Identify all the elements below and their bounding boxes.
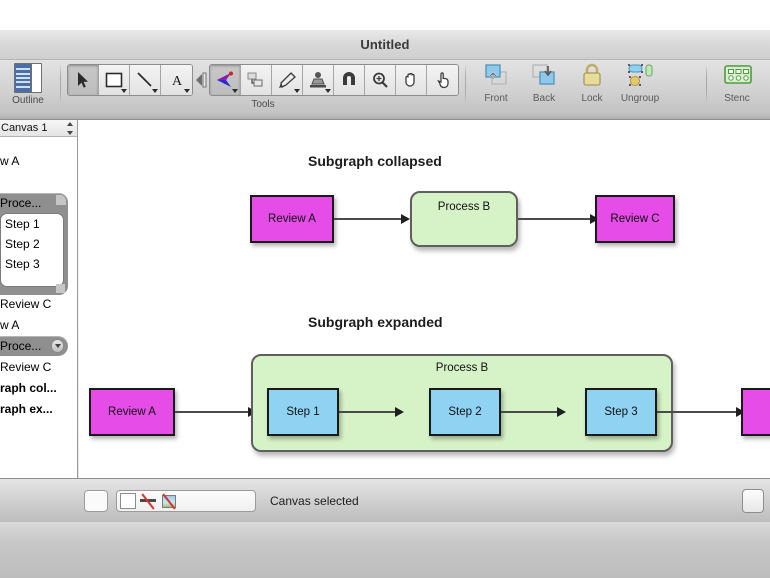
- node-review-a-expanded[interactable]: Review A: [89, 388, 175, 436]
- node-step-1[interactable]: Step 1: [267, 388, 339, 436]
- svg-text:A: A: [171, 74, 182, 88]
- ungroup-button[interactable]: Ungroup: [616, 60, 664, 116]
- main-toolbar: Outline: [0, 60, 770, 120]
- edge-step-1-to-step-2: [339, 411, 396, 413]
- ungroup-icon: [625, 62, 655, 90]
- omnigraffle-window: Untitled Outline: [0, 0, 770, 578]
- bring-to-front-button[interactable]: Front: [472, 60, 520, 116]
- toolbar-group-outline-label: Outline: [12, 95, 44, 106]
- style-brush-tool[interactable]: [272, 65, 303, 95]
- no-stroke-icon[interactable]: [139, 493, 157, 509]
- canvas-selector[interactable]: Canvas 1: [0, 120, 77, 137]
- outline-group-label: Proce...: [0, 196, 41, 210]
- pointing-hand-tool[interactable]: [427, 65, 458, 95]
- group-disclosure-icon[interactable]: [51, 339, 64, 353]
- outline-sidebar: Canvas 1 w A Proce... Step 1 Ste: [0, 120, 78, 478]
- chevron-down-icon: [325, 89, 331, 93]
- section-title-expanded: Subgraph expanded: [308, 314, 443, 330]
- node-process-b-collapsed[interactable]: Process B: [410, 191, 518, 247]
- style-attributes-well[interactable]: [116, 490, 256, 512]
- node-review-c-collapsed[interactable]: Review C: [595, 195, 675, 243]
- toolbar-overflow-handle[interactable]: [193, 65, 209, 95]
- fill-color-swatch[interactable]: [84, 490, 108, 512]
- shape-tool[interactable]: [99, 65, 130, 95]
- node-review-c-expanded[interactable]: Rev: [741, 388, 770, 436]
- outline-row-label: w A: [0, 151, 19, 171]
- list-item[interactable]: Review C: [0, 294, 51, 314]
- magnet-tool[interactable]: [334, 65, 365, 95]
- list-item[interactable]: Step 2: [1, 234, 63, 254]
- outline-row-label: Step 3: [5, 254, 40, 274]
- canvas-selector-label: Canvas 1: [1, 122, 47, 134]
- chevron-down-icon: [232, 89, 238, 93]
- edge-step-3-to-review-c: [657, 411, 737, 413]
- outline-group-expanded[interactable]: Proce... Step 1 Step 2 Step 3: [0, 193, 68, 295]
- outline-row-label: w A: [0, 315, 19, 335]
- stencils-button[interactable]: Stenc: [713, 60, 761, 116]
- lock-button[interactable]: Lock: [568, 60, 616, 116]
- hand-tool[interactable]: [396, 65, 427, 95]
- node-step-3[interactable]: Step 3: [585, 388, 657, 436]
- edge-review-a-to-step-1: [175, 411, 249, 413]
- outline-list: w A Proce... Step 1 Step 2 Step 3: [0, 137, 77, 478]
- node-label: Step 2: [448, 406, 481, 418]
- toolbar-group-outline[interactable]: Outline: [2, 60, 54, 120]
- tool-strip-primary: A: [67, 64, 193, 96]
- outline-icon: [14, 63, 42, 93]
- chevron-down-icon: [294, 89, 300, 93]
- canvas-selector-stepper-icon[interactable]: [66, 122, 74, 135]
- status-bar: Canvas selected: [0, 478, 770, 522]
- list-item[interactable]: Step 3: [1, 254, 63, 274]
- no-image-fill-icon[interactable]: [160, 493, 178, 509]
- node-label: Review C: [610, 213, 659, 225]
- send-to-back-button[interactable]: Back: [520, 60, 568, 116]
- window-bottom-chrome: [0, 522, 770, 578]
- toolbar-divider-1: [60, 64, 61, 104]
- pen-bezier-tool[interactable]: [210, 65, 241, 95]
- drawing-canvas[interactable]: Subgraph collapsed Review A Process B Re…: [79, 120, 770, 478]
- send-to-back-icon: [529, 62, 559, 90]
- diagram-tool[interactable]: [241, 65, 272, 95]
- node-review-a-collapsed[interactable]: Review A: [250, 195, 334, 243]
- outline-row-label: raph ex...: [0, 399, 53, 419]
- fill-none-icon[interactable]: [120, 493, 136, 509]
- toolbar-group-tools-label: Tools: [251, 99, 274, 110]
- outline-row-label: Step 2: [5, 234, 40, 254]
- chevron-down-icon: [184, 89, 190, 93]
- inspector-toggle-button[interactable]: [742, 489, 764, 513]
- outline-group-header[interactable]: Proce...: [0, 336, 68, 356]
- window-title: Untitled: [360, 37, 409, 52]
- stencils-icon: [722, 62, 752, 90]
- bring-to-front-label: Front: [484, 93, 507, 104]
- edge-process-b-to-review-c: [518, 218, 591, 220]
- edge-review-a-to-process-b: [334, 218, 402, 220]
- list-item[interactable]: raph col...: [0, 378, 57, 398]
- list-item[interactable]: Step 1: [1, 214, 63, 234]
- node-step-2[interactable]: Step 2: [429, 388, 501, 436]
- outline-group-children: Step 1 Step 2 Step 3: [0, 213, 64, 287]
- arrowhead-icon: [395, 407, 404, 417]
- tool-strip-secondary: [209, 64, 459, 96]
- status-message: Canvas selected: [270, 494, 359, 508]
- group-resize-corner-icon: [56, 284, 65, 293]
- ungroup-label: Ungroup: [621, 93, 659, 104]
- zoom-tool[interactable]: [365, 65, 396, 95]
- outline-group-header[interactable]: Proce...: [0, 193, 68, 213]
- text-tool[interactable]: A: [161, 65, 192, 95]
- outline-group-label: Proce...: [0, 339, 41, 353]
- toolbar-divider-2: [465, 64, 466, 104]
- stencils-label: Stenc: [724, 93, 750, 104]
- selection-tool[interactable]: [68, 65, 99, 95]
- toolbar-divider-3: [706, 64, 707, 104]
- list-item[interactable]: w A: [0, 151, 19, 171]
- send-to-back-label: Back: [533, 93, 555, 104]
- outline-row-label: Review C: [0, 357, 51, 377]
- node-label: Review A: [108, 406, 156, 418]
- outline-row-label: Step 1: [5, 214, 40, 234]
- edge-step-2-to-step-3: [501, 411, 558, 413]
- group-corner-icon: [56, 195, 66, 205]
- node-label: Process B: [412, 201, 516, 213]
- window-titlebar: Untitled: [0, 30, 770, 60]
- toolbar-group-tools: A: [67, 60, 459, 120]
- chevron-down-icon: [121, 89, 127, 93]
- section-title-collapsed: Subgraph collapsed: [308, 153, 442, 169]
- rubber-stamp-tool[interactable]: [303, 65, 334, 95]
- outline-row-label: raph col...: [0, 378, 57, 398]
- lock-label: Lock: [581, 93, 602, 104]
- arrowhead-icon: [401, 214, 410, 224]
- line-tool[interactable]: [130, 65, 161, 95]
- list-item[interactable]: raph ex...: [0, 399, 53, 419]
- list-item[interactable]: w A: [0, 315, 19, 335]
- node-label: Step 1: [286, 406, 319, 418]
- list-item[interactable]: Review C: [0, 357, 51, 377]
- node-label: Process B: [253, 362, 671, 374]
- node-label: Step 3: [604, 406, 637, 418]
- arrowhead-icon: [557, 407, 566, 417]
- padlock-icon: [577, 62, 607, 90]
- chevron-down-icon: [152, 89, 158, 93]
- bring-to-front-icon: [481, 62, 511, 90]
- outline-row-label: Review C: [0, 294, 51, 314]
- node-label: Review A: [268, 213, 316, 225]
- outline-group-collapsed[interactable]: Proce...: [0, 336, 68, 356]
